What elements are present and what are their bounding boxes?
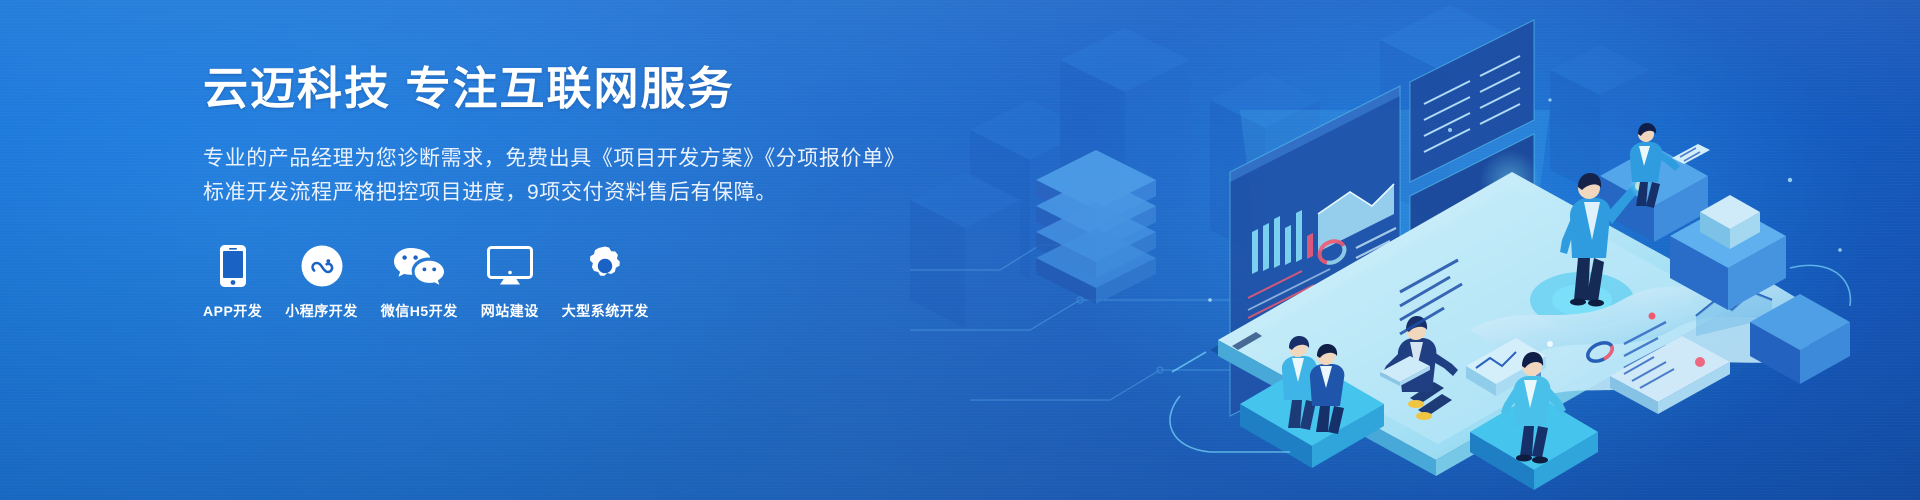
service-label-system: 大型系统开发 (562, 301, 649, 321)
server-stack (1036, 150, 1156, 304)
banner-content: 云迈科技 专注互联网服务 专业的产品经理为您诊断需求，免费出具《项目开发方案》《… (203, 64, 903, 321)
service-label-app: APP开发 (203, 301, 262, 321)
monitor-icon (487, 244, 533, 288)
service-label-wechat: 微信H5开发 (381, 301, 458, 321)
service-label-website: 网站建设 (481, 301, 539, 321)
subtitle-line-1: 专业的产品经理为您诊断需求，免费出具《项目开发方案》《分项报价单》 (203, 142, 903, 176)
mini-program-icon (301, 244, 343, 288)
hero-banner: 云迈科技 专注互联网服务 专业的产品经理为您诊断需求，免费出具《项目开发方案》《… (0, 0, 1920, 500)
banner-title: 云迈科技 专注互联网服务 (203, 64, 903, 114)
service-item-wechat[interactable]: 微信H5开发 (381, 244, 458, 321)
isometric-tech-illustration (910, 0, 1920, 500)
service-label-miniprogram: 小程序开发 (285, 301, 358, 321)
service-item-system[interactable]: 大型系统开发 (562, 244, 649, 321)
gear-icon (584, 244, 626, 288)
service-item-miniprogram[interactable]: 小程序开发 (285, 244, 358, 321)
banner-subtitle: 专业的产品经理为您诊断需求，免费出具《项目开发方案》《分项报价单》 标准开发流程… (203, 142, 903, 210)
wechat-icon (392, 244, 446, 288)
service-item-website[interactable]: 网站建设 (481, 244, 539, 321)
mobile-phone-icon (219, 244, 247, 288)
service-item-app[interactable]: APP开发 (203, 244, 262, 321)
subtitle-line-2: 标准开发流程严格把控项目进度，9项交付资料售后有保障。 (203, 176, 903, 210)
service-list: APP开发 小程序开发 (203, 244, 903, 321)
